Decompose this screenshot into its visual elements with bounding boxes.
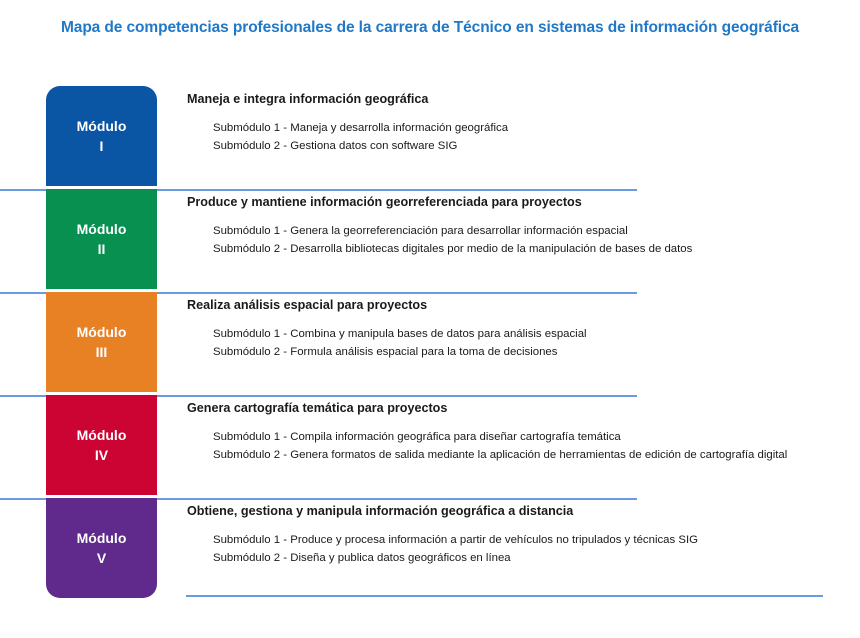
submodule-item: Submódulo 1 - Maneja y desarrolla inform… <box>213 120 508 138</box>
module-row: Módulo V Obtiene, gestiona y manipula in… <box>0 498 860 598</box>
module-chip-label: Módulo <box>77 425 127 445</box>
submodule-item: Submódulo 1 - Genera la georreferenciaci… <box>213 223 692 241</box>
module-content-5: Obtiene, gestiona y manipula información… <box>186 498 826 598</box>
submodule-item: Submódulo 2 - Desarrolla bibliotecas dig… <box>213 241 692 259</box>
submodule-list: Submódulo 1 - Genera la georreferenciaci… <box>213 223 692 258</box>
competency-title: Maneja e integra información geográfica <box>187 92 428 106</box>
submodule-list: Submódulo 1 - Compila información geográ… <box>213 429 787 464</box>
submodule-item: Submódulo 1 - Compila información geográ… <box>213 429 787 447</box>
module-chip-numeral: IV <box>95 445 108 465</box>
submodule-item: Submódulo 2 - Formula análisis espacial … <box>213 344 587 362</box>
module-row: Módulo I Maneja e integra información ge… <box>0 86 860 186</box>
module-chip-2[interactable]: Módulo II <box>46 189 157 289</box>
module-chip-numeral: II <box>98 239 106 259</box>
module-row: Módulo III Realiza análisis espacial par… <box>0 292 860 392</box>
module-chip-4[interactable]: Módulo IV <box>46 395 157 495</box>
module-chip-1[interactable]: Módulo I <box>46 86 157 186</box>
module-row: Módulo IV Genera cartografía temática pa… <box>0 395 860 495</box>
submodule-item: Submódulo 1 - Produce y procesa informac… <box>213 532 698 550</box>
module-content-2: Produce y mantiene información georrefer… <box>186 189 826 289</box>
submodule-item: Submódulo 2 - Genera formatos de salida … <box>213 447 787 465</box>
submodule-list: Submódulo 1 - Combina y manipula bases d… <box>213 326 587 361</box>
competency-title: Realiza análisis espacial para proyectos <box>187 298 427 312</box>
competency-title: Obtiene, gestiona y manipula información… <box>187 504 573 518</box>
competency-map-page: Mapa de competencias profesionales de la… <box>0 0 860 638</box>
module-chip-numeral: I <box>100 136 104 156</box>
submodule-item: Submódulo 1 - Combina y manipula bases d… <box>213 326 587 344</box>
module-list: Módulo I Maneja e integra información ge… <box>0 86 860 601</box>
module-chip-label: Módulo <box>77 219 127 239</box>
module-content-1: Maneja e integra información geográfica … <box>186 86 826 186</box>
module-chip-5[interactable]: Módulo V <box>46 498 157 598</box>
module-chip-numeral: III <box>96 342 108 362</box>
module-chip-label: Módulo <box>77 528 127 548</box>
bottom-divider <box>186 595 823 597</box>
competency-title: Produce y mantiene información georrefer… <box>187 195 582 209</box>
submodule-list: Submódulo 1 - Maneja y desarrolla inform… <box>213 120 508 155</box>
submodule-item: Submódulo 2 - Diseña y publica datos geo… <box>213 550 698 568</box>
competency-title: Genera cartografía temática para proyect… <box>187 401 447 415</box>
module-chip-numeral: V <box>97 548 106 568</box>
module-chip-3[interactable]: Módulo III <box>46 292 157 392</box>
module-content-3: Realiza análisis espacial para proyectos… <box>186 292 826 392</box>
module-content-4: Genera cartografía temática para proyect… <box>186 395 826 495</box>
page-title: Mapa de competencias profesionales de la… <box>0 19 860 37</box>
module-row: Módulo II Produce y mantiene información… <box>0 189 860 289</box>
module-chip-label: Módulo <box>77 116 127 136</box>
module-chip-label: Módulo <box>77 322 127 342</box>
submodule-list: Submódulo 1 - Produce y procesa informac… <box>213 532 698 567</box>
submodule-item: Submódulo 2 - Gestiona datos con softwar… <box>213 138 508 156</box>
